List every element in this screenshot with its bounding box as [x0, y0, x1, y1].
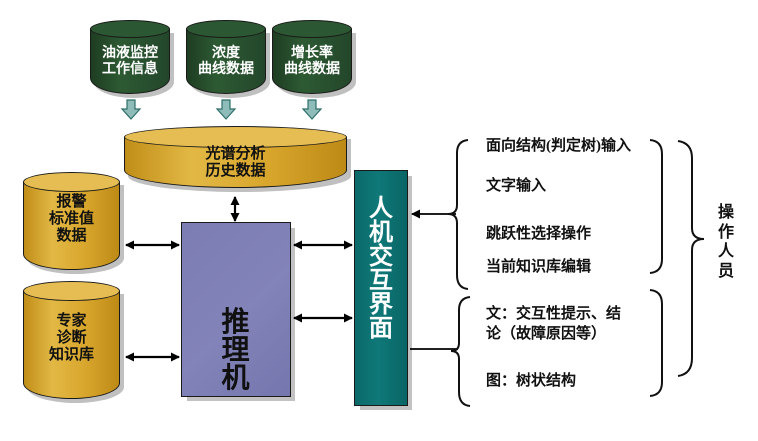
brace-operator [678, 141, 704, 376]
connector-overlay [0, 0, 758, 441]
input-item-text: 文字输入 [486, 176, 546, 196]
brace-input-group [448, 140, 468, 289]
actor-label-operator: 操作人员 [716, 203, 736, 281]
output-item-graph: 图：树状结构 [486, 371, 576, 391]
brace-output-close [650, 290, 662, 396]
input-item-structured: 面向结构(判定树)输入 [486, 136, 631, 156]
input-item-jump-select: 跳跃性选择操作 [486, 224, 591, 244]
output-item-text: 文：交互性提示、结 论（故障原因等） [486, 304, 651, 345]
diagram-canvas: 油液监控 工作信息 浓度 曲线数据 增长率 曲线数据 光谱分析 历史数据 [0, 0, 758, 441]
brace-input-close [650, 140, 662, 273]
input-item-kb-edit: 当前知识库编辑 [486, 257, 591, 277]
brace-output-group [451, 297, 470, 406]
